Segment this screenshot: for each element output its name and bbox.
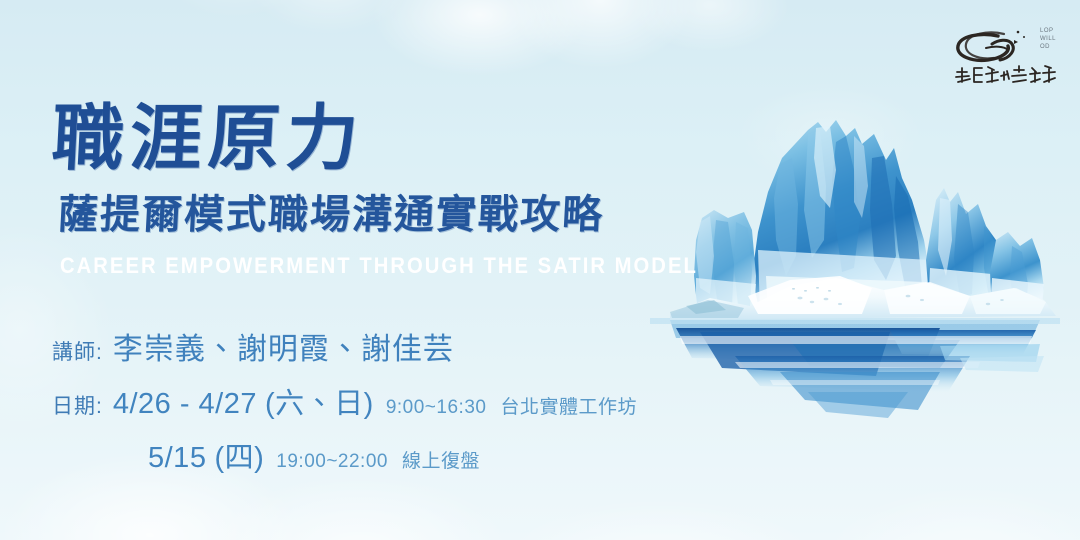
copy-block: 職涯原力 薩提爾模式職場溝通實戰攻略 CAREER EMPOWERMENT TH… (52, 96, 692, 488)
brand-logo[interactable]: LOP WILL OD (952, 14, 1062, 90)
details-block: 講師: 李崇義、謝明霞、謝佳芸 日期: 4/26 - 4/27 (六、日) 9:… (52, 324, 692, 476)
session-two-row: 5/15 (四) 19:00~22:00 線上復盤 (52, 434, 692, 476)
session-one-time: 9:00~16:30 (386, 397, 487, 419)
english-subtitle: CAREER EMPOWERMENT THROUGH THE SATIR MOD… (60, 252, 641, 280)
session-two-date: 5/15 (148, 442, 206, 475)
session-one-date: 4/26 - 4/27 (113, 388, 257, 421)
session-two-time: 19:00~22:00 (276, 451, 388, 473)
brand-tagline: LOP WILL OD (1040, 27, 1056, 51)
session-two-venue: 線上復盤 (402, 446, 480, 473)
instructor-label: 講師: (52, 336, 103, 366)
page-title: 職涯原力 (50, 96, 694, 180)
poster-canvas: LOP WILL OD 職涯原力 薩提爾模式職場溝通實戰攻略 CAREER EM… (0, 0, 1080, 540)
instructor-names: 李崇義、謝明霞、謝佳芸 (113, 324, 454, 368)
instructor-row: 講師: 李崇義、謝明霞、謝佳芸 (52, 324, 692, 368)
iceberg-illustration (640, 100, 1070, 430)
session-one-weekday: (六、日) (265, 380, 374, 422)
session-one-row: 日期: 4/26 - 4/27 (六、日) 9:00~16:30 台北實體工作坊 (52, 380, 692, 422)
page-subtitle: 薩提爾模式職場溝通實戰攻略 (57, 188, 694, 242)
session-one-venue: 台北實體工作坊 (500, 392, 637, 419)
date-label: 日期: (52, 390, 103, 420)
session-two-weekday: (四) (214, 434, 264, 476)
brand-brush-mark (952, 14, 1062, 90)
